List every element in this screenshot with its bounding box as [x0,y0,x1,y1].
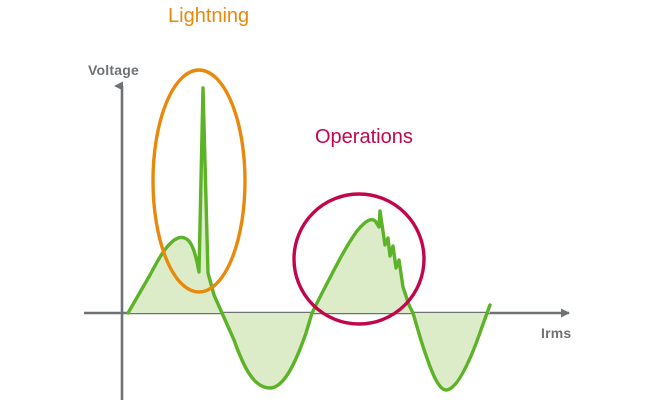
y-axis-label: Voltage [88,63,139,77]
diagram-canvas: Lightning Operations Voltage Irms [0,0,668,419]
voltage-waveform [128,88,490,390]
x-axis-label: Irms [541,326,571,340]
lightning-annotation-label: Lightning [168,6,249,26]
operations-annotation-label: Operations [315,127,413,147]
